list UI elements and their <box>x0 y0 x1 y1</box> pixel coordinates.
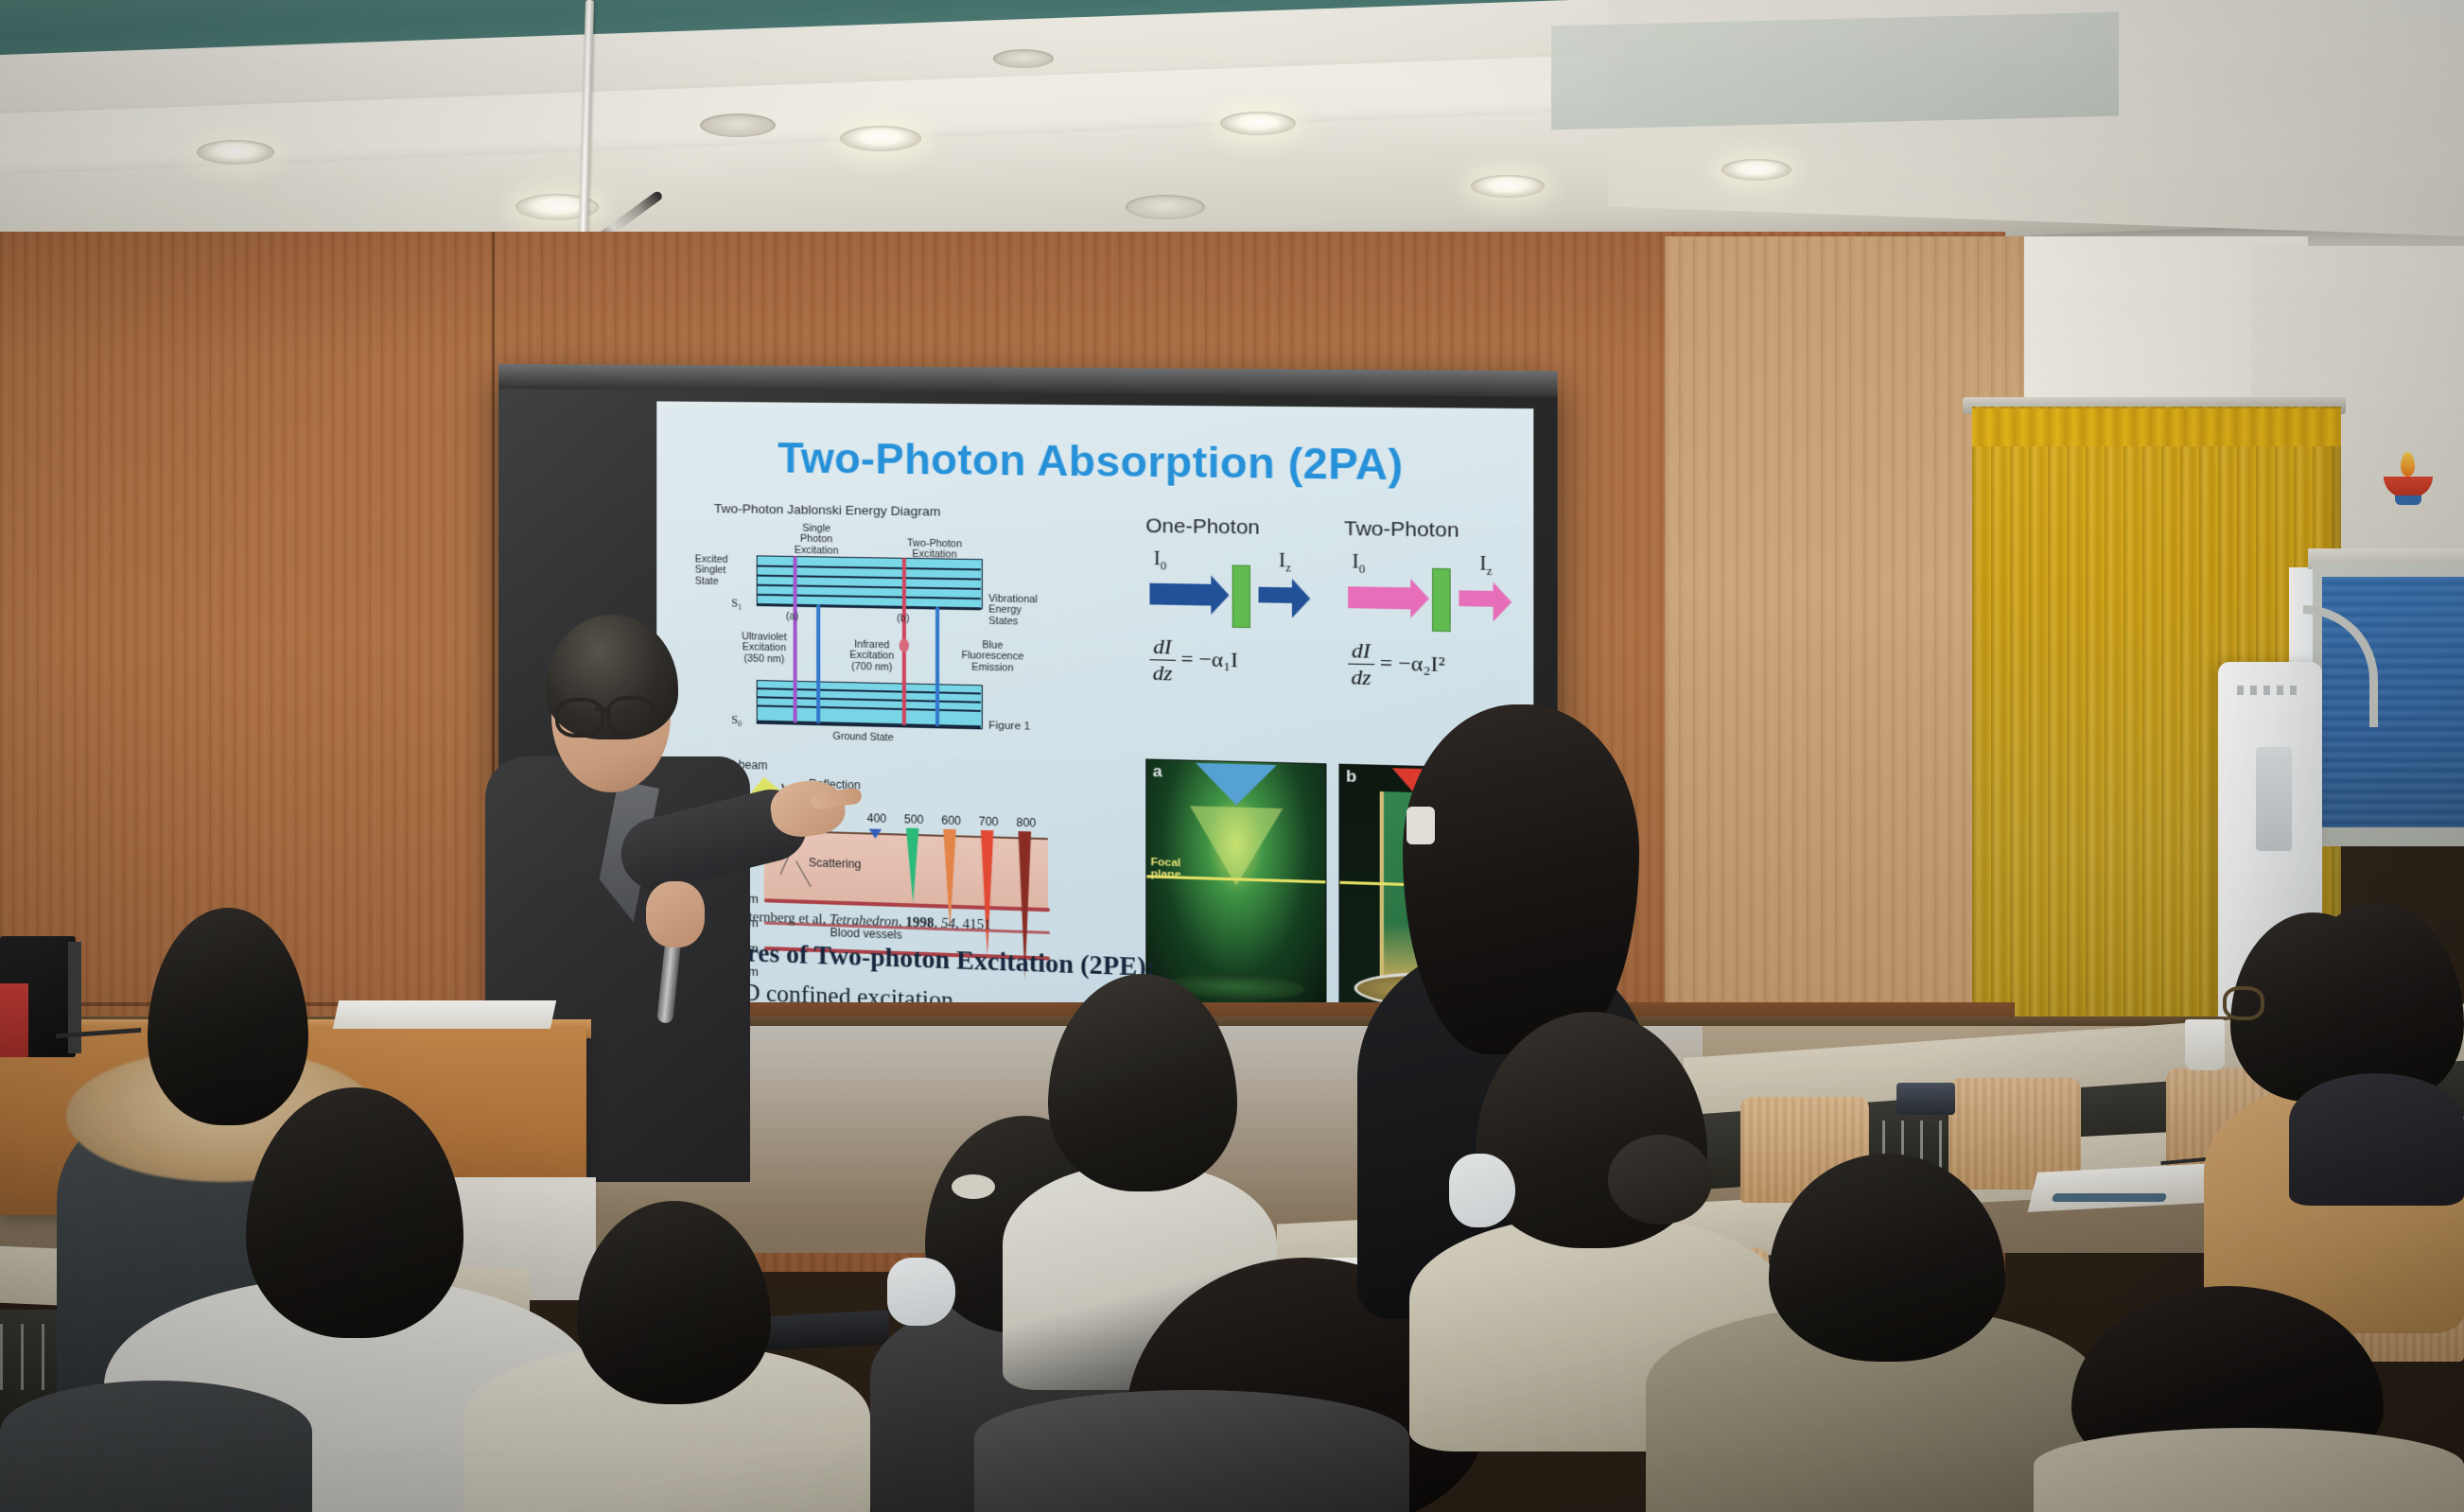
downlight-icon <box>840 126 921 151</box>
attendee-body <box>974 1390 1409 1512</box>
wavelength-label: 600 <box>941 813 961 827</box>
curtain-pleat-header <box>1972 408 2341 446</box>
label-marker-b: (b) <box>888 614 917 625</box>
hair-clip-icon <box>1407 807 1435 844</box>
attendee-cream-coat <box>463 1201 870 1512</box>
camera-on-desk <box>1896 1083 1955 1115</box>
label-figure-1: Figure 1 <box>988 720 1057 733</box>
one-photon-input-arrow <box>1149 583 1212 606</box>
citation-page: 4151 <box>962 916 990 932</box>
attendee-front-right <box>2034 1286 2464 1512</box>
one-photon-heading: One-Photon <box>1145 514 1260 540</box>
decorative-lamp-icon <box>2384 452 2433 509</box>
panel-a-cone <box>1189 806 1282 887</box>
one-photon-sample <box>1232 565 1250 628</box>
microscopy-panel-a: a 488 nm Focal plane <box>1145 758 1326 1007</box>
downlight-icon <box>197 140 274 165</box>
one-photon-output-arrow <box>1259 587 1293 603</box>
eyeglasses-icon <box>2223 986 2264 1020</box>
downlight-icon <box>993 49 1054 68</box>
wavelength-label: 700 <box>979 814 999 828</box>
two-photon-sample <box>1432 568 1451 632</box>
eyeglasses-icon <box>555 698 604 738</box>
attendee-olive-coat <box>1646 1154 2100 1512</box>
two-photon-input-intensity: I0 <box>1352 551 1365 577</box>
wavelength-label: 400 <box>867 811 887 826</box>
label-single-photon-excitation: Single Photon Excitation <box>772 523 861 557</box>
red-binder[interactable] <box>0 983 28 1057</box>
lecture-hall-photo: Two-Photon Absorption (2PA) Two-Photon J… <box>0 0 2464 1512</box>
two-photon-equation-rhs: = −α₂I² <box>1380 650 1445 676</box>
attendee-hair <box>1403 704 1639 1054</box>
label-ground-state: Ground State <box>805 731 922 745</box>
attendee-back-right <box>2289 903 2464 1187</box>
downlight-icon <box>700 113 776 137</box>
two-photon-output-arrow <box>1459 590 1494 606</box>
attendee-hair <box>577 1201 771 1404</box>
face-mask-icon <box>887 1258 955 1326</box>
absorption-comparison: One-Photon Two-Photon I0 Iz dIdz = −α₁I … <box>1145 514 1525 728</box>
ceiling-grid-right <box>1551 12 2119 130</box>
attendee-hair <box>1769 1154 2005 1362</box>
two-photon-output-intensity: Iz <box>1479 553 1492 579</box>
one-photon-input-intensity: I0 <box>1154 548 1166 574</box>
two-photon-equation: dIdz = −α₂I² <box>1348 637 1445 692</box>
label-vibrational-energy-states: Vibrational Energy States <box>988 594 1079 629</box>
slide-title: Two-Photon Absorption (2PA) <box>656 434 1533 493</box>
face-mask-icon <box>1449 1154 1515 1227</box>
label-infrared-excitation: Infrared Excitation (700 nm) <box>832 639 913 673</box>
two-photon-heading: Two-Photon <box>1344 517 1459 543</box>
citation-year: 1998 <box>905 914 934 930</box>
citation-volume: 54 <box>941 916 955 932</box>
label-blue-fluorescence: Blue Fluorescence Emission <box>947 639 1038 674</box>
downlight-icon <box>1126 195 1205 219</box>
panel-a-focal-label: Focal plane <box>1151 858 1181 881</box>
citation-journal: Tetrahedron, <box>830 912 902 930</box>
ac-vent-icon <box>2237 686 2301 695</box>
panel-a-excitation-arrow-icon <box>1196 763 1276 807</box>
attendee-body <box>2034 1428 2464 1512</box>
attendee-grey-coat <box>974 1324 1409 1512</box>
fluorescence-emission-arrow-left <box>816 604 820 723</box>
attendee-hair <box>1048 974 1237 1191</box>
one-photon-equation-rhs: = −α₁I <box>1180 646 1238 671</box>
label-scattering: Scattering <box>809 856 862 871</box>
one-photon-output-intensity: Iz <box>1279 550 1291 576</box>
wavelength-label: 500 <box>904 812 924 826</box>
attendee-body <box>2289 1073 2464 1206</box>
wavelength-label: 800 <box>1016 816 1036 830</box>
downlight-icon <box>1721 159 1791 181</box>
attendee-beige-coat <box>0 1343 312 1512</box>
label-s1: S1 <box>731 597 742 612</box>
jablonski-caption: Two-Photon Jablonski Energy Diagram <box>714 501 941 519</box>
attendee-body <box>0 1381 312 1512</box>
fluorescence-emission-arrow-right <box>935 606 939 726</box>
hair-tie-icon <box>952 1174 995 1199</box>
eyeglasses-icon <box>606 696 655 736</box>
excited-state-band <box>757 555 983 609</box>
eyeglasses-bridge <box>595 707 610 711</box>
attendee-hair <box>246 1087 463 1338</box>
two-photon-input-arrow <box>1348 586 1411 609</box>
presenter-hand-holding-mic <box>646 881 705 947</box>
downlight-icon <box>1220 112 1296 135</box>
ac-control-panel[interactable] <box>2256 747 2292 851</box>
one-photon-equation: dIdz = −α₁I <box>1149 634 1238 687</box>
skin-layer <box>764 829 1048 910</box>
downlight-icon <box>1471 175 1545 198</box>
